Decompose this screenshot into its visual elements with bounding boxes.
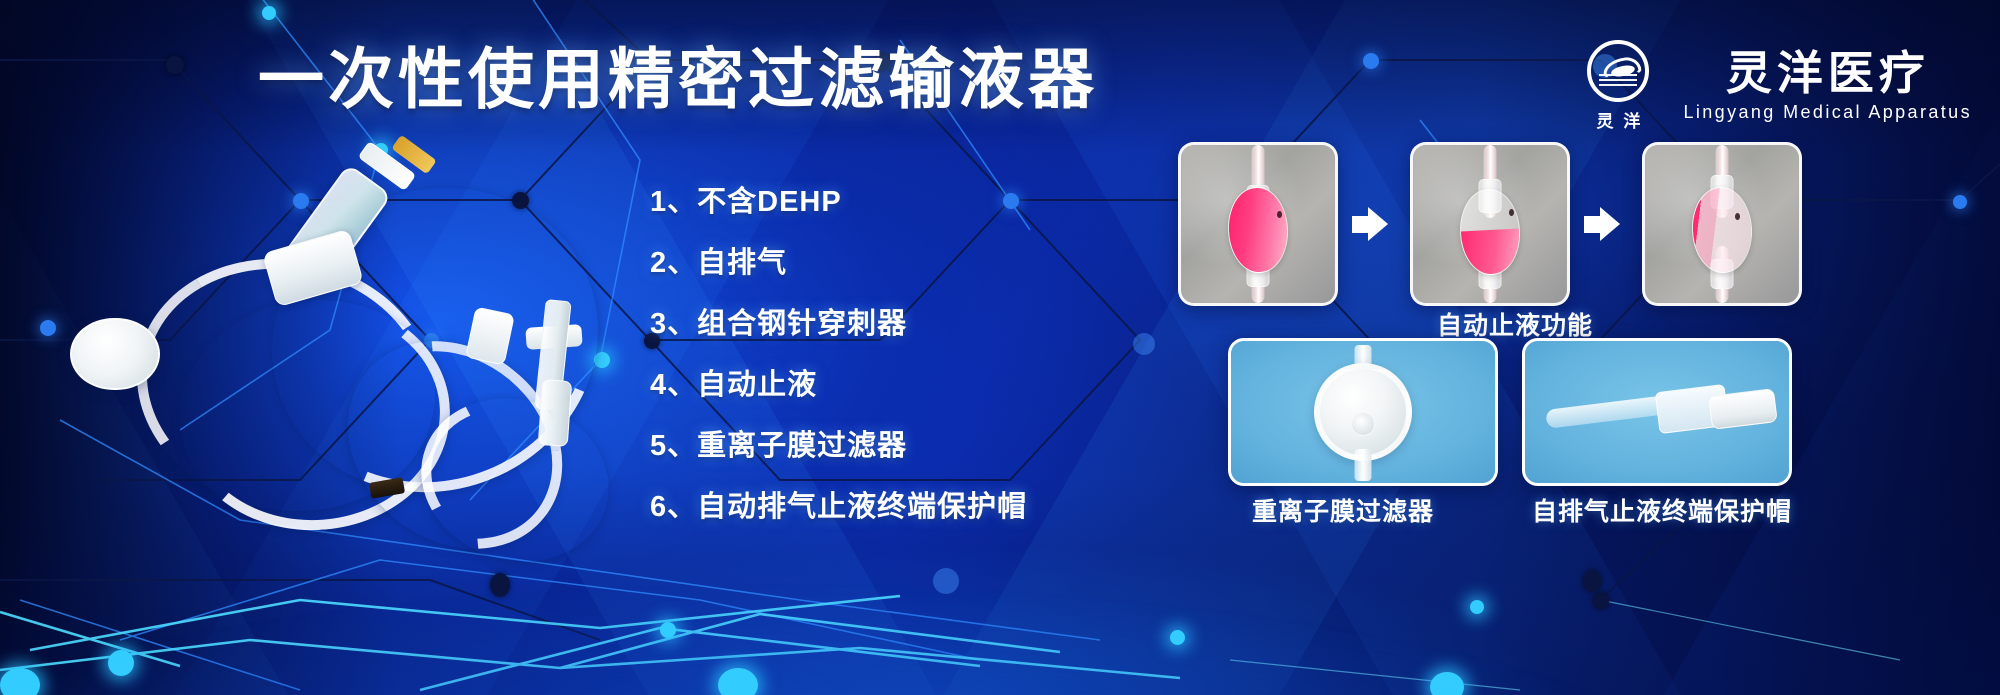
product-photo-infusion-set bbox=[40, 150, 660, 550]
protective-cap bbox=[538, 379, 573, 447]
brand-name-en: Lingyang Medical Apparatus bbox=[1683, 102, 1972, 123]
network-node bbox=[660, 622, 676, 638]
logo-emblem: ® 灵洋 bbox=[1573, 40, 1663, 132]
network-node bbox=[1133, 333, 1155, 355]
feature-item-2: 2、自排气 bbox=[650, 233, 1080, 294]
network-node bbox=[1363, 53, 1379, 69]
brand-name-cn: 灵洋医疗 bbox=[1726, 49, 1930, 97]
photo-heavy-ion-filter bbox=[1228, 338, 1498, 486]
pink-liquid bbox=[1461, 229, 1521, 276]
caption-protective-cap: 自排气止液终端保护帽 bbox=[1532, 492, 1792, 528]
caption-heavy-ion-filter: 重离子膜过滤器 bbox=[1252, 492, 1434, 528]
arrow-shaft bbox=[1584, 216, 1600, 233]
feature-item-1: 1、不含DEHP bbox=[650, 172, 1080, 233]
marker-speck bbox=[1277, 211, 1282, 218]
feature-item-6: 6、自动排气止液终端保护帽 bbox=[650, 477, 1080, 538]
filter-component bbox=[70, 318, 160, 390]
wave-icon bbox=[1599, 73, 1637, 86]
feature-item-5: 5、重离子膜过滤器 bbox=[650, 416, 1080, 477]
pink-liquid bbox=[1227, 187, 1289, 274]
feature-list: 1、不含DEHP 2、自排气 3、组合钢针穿刺器 4、自动止液 5、重离子膜过滤… bbox=[650, 172, 1080, 538]
filter-housing bbox=[1314, 363, 1412, 461]
network-node bbox=[718, 668, 758, 695]
registered-trademark-icon: ® bbox=[1639, 42, 1649, 57]
network-node bbox=[1430, 672, 1464, 695]
caption-auto-stop: 自动止液功能 bbox=[1437, 306, 1593, 342]
filter-chamber bbox=[1226, 185, 1290, 274]
photo-protective-cap bbox=[1522, 338, 1792, 486]
auto-stop-photo-step-3 bbox=[1642, 142, 1802, 306]
network-node bbox=[1593, 593, 1609, 609]
progress-arrow-2 bbox=[1584, 207, 1620, 241]
network-node bbox=[262, 6, 276, 20]
auto-stop-photo-step-1 bbox=[1178, 142, 1338, 306]
pink-liquid bbox=[1691, 187, 1753, 274]
wave-emblem-icon: ® bbox=[1587, 40, 1649, 102]
progress-arrow-1 bbox=[1352, 207, 1388, 241]
auto-stop-photo-step-2 bbox=[1410, 142, 1570, 306]
logo-mark-text: 灵洋 bbox=[1586, 107, 1650, 132]
network-node bbox=[0, 668, 40, 695]
brand-logo: ® 灵洋 灵洋医疗 Lingyang Medical Apparatus bbox=[1573, 40, 1972, 132]
network-node bbox=[1583, 570, 1601, 592]
feature-item-3: 3、组合钢针穿刺器 bbox=[650, 294, 1080, 355]
network-node bbox=[166, 56, 184, 74]
filter-chamber bbox=[1690, 185, 1754, 274]
brand-name-block: 灵洋医疗 Lingyang Medical Apparatus bbox=[1683, 49, 1972, 122]
network-node bbox=[933, 568, 959, 594]
page-title: 一次性使用精密过滤输液器 bbox=[258, 46, 1098, 112]
network-node bbox=[108, 650, 134, 676]
arrow-head-icon bbox=[1600, 207, 1620, 241]
arrow-shaft bbox=[1352, 216, 1368, 233]
arrow-head-icon bbox=[1368, 207, 1388, 241]
product-banner: 一次性使用精密过滤输液器 ® 灵洋 灵洋医疗 Lingyang Medical … bbox=[0, 0, 2000, 695]
network-node bbox=[1953, 195, 1967, 209]
feature-item-4: 4、自动止液 bbox=[650, 355, 1080, 416]
network-node bbox=[1170, 630, 1185, 645]
marker-speck bbox=[1735, 213, 1740, 220]
network-node bbox=[490, 573, 510, 597]
network-node bbox=[1470, 600, 1484, 614]
marker-speck bbox=[1509, 209, 1514, 216]
filter-outlet bbox=[1355, 449, 1372, 481]
